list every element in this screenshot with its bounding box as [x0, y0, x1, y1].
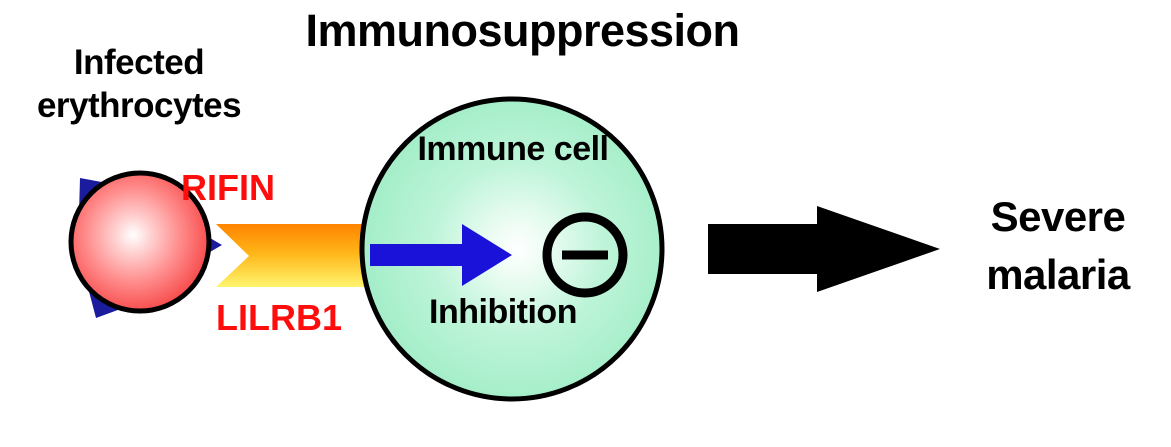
label-lilrb1: LILRB1 [216, 300, 342, 336]
lilrb1-band-shape [216, 224, 366, 287]
label-rifin: RIFIN [181, 170, 275, 206]
label-infected: Infected [0, 45, 278, 80]
label-erythrocytes: erythrocytes [0, 88, 278, 123]
label-immune-cell: Immune cell [362, 132, 664, 166]
label-severe-outcome-line2: malaria [945, 254, 1171, 296]
label-severe-outcome-line1: Severe [945, 196, 1171, 238]
outcome-arrow-icon [708, 206, 940, 292]
label-inhibition: Inhibition [362, 295, 644, 329]
scientific-diagram: Immunosuppression Infected erythrocytes … [0, 0, 1171, 447]
